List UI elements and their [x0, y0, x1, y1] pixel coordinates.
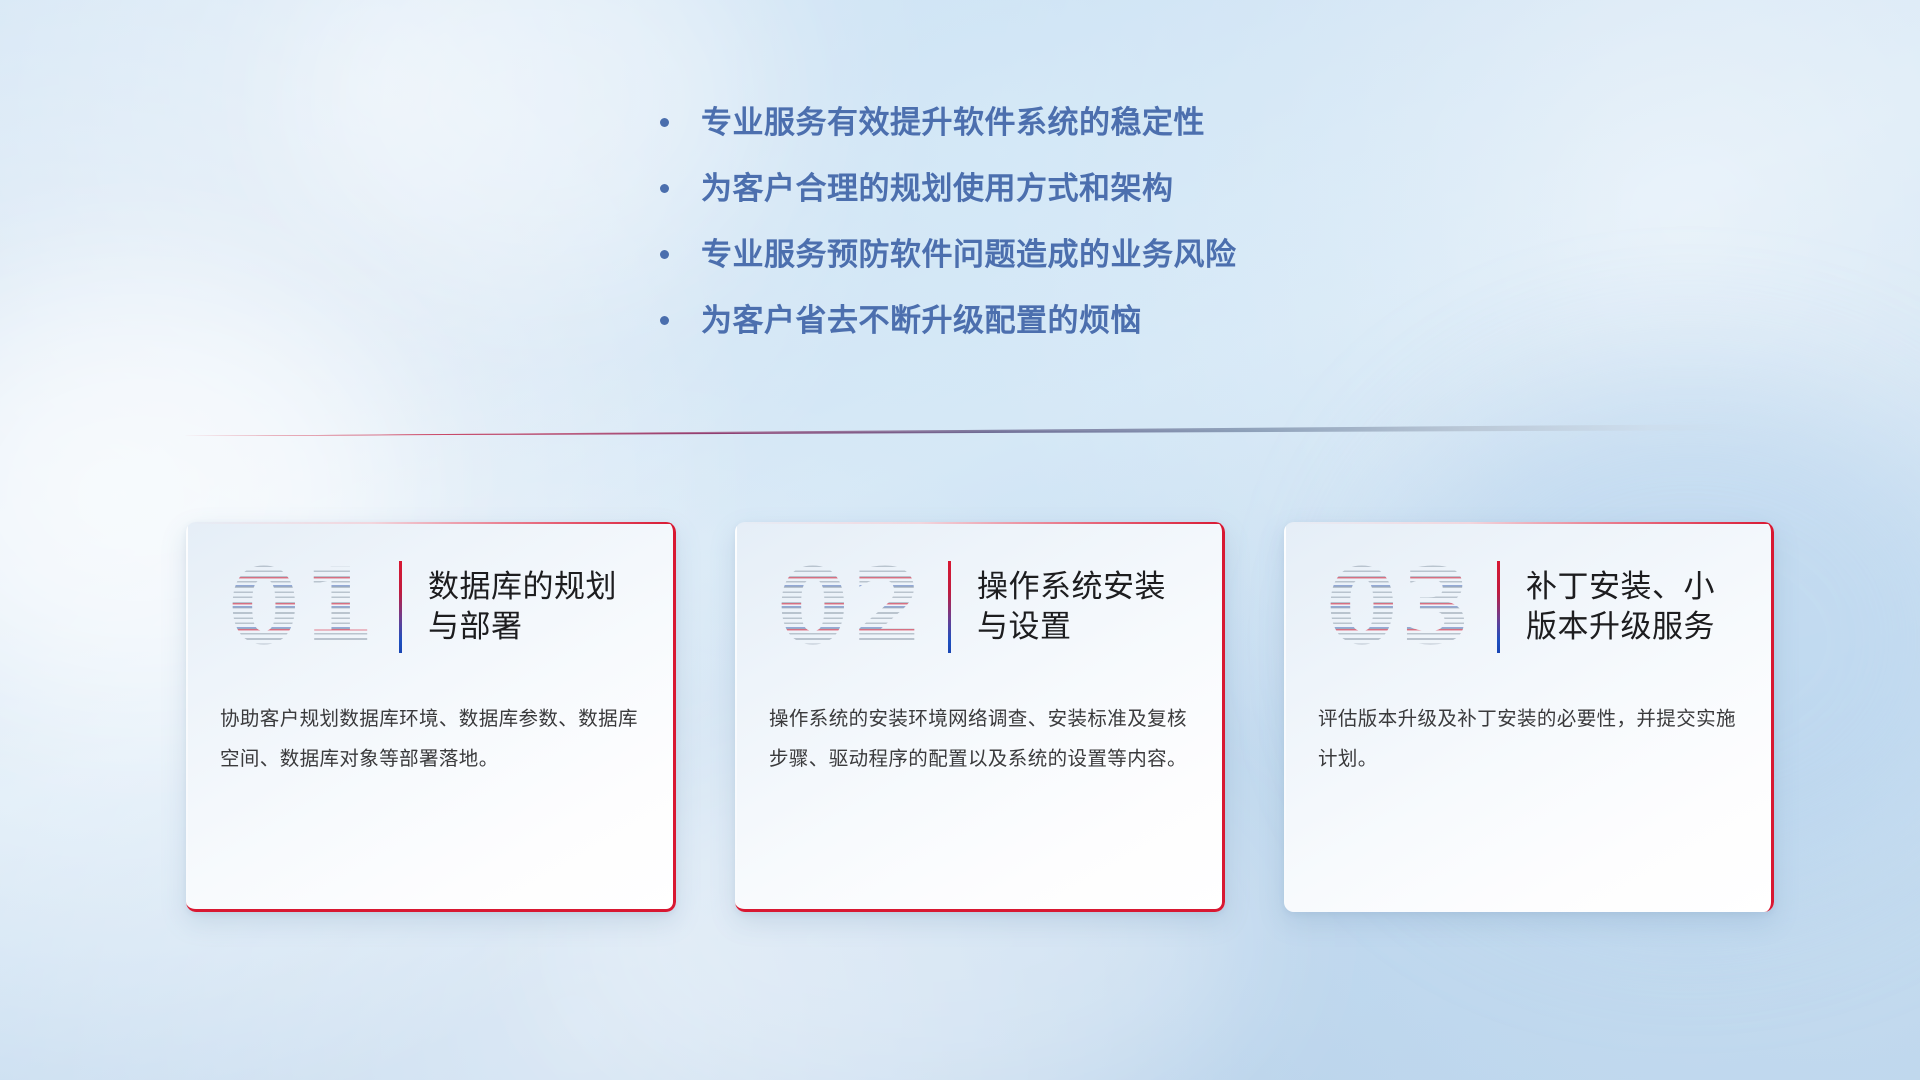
service-card-01[interactable]: 01 01 数据库的规划与部署 协助客户规划数据库环境、数据库参数、数据库空间、…: [186, 522, 676, 912]
card-body-text: 协助客户规划数据库环境、数据库参数、数据库空间、数据库对象等部署落地。: [220, 700, 642, 780]
service-card-03[interactable]: 03 03 补丁安装、小版本升级服务 评估版本升级及补丁安装的必要性，并提交实施…: [1284, 522, 1774, 912]
card-number: 02: [777, 555, 926, 659]
section-divider: [182, 424, 1742, 436]
card-number-badge: 02 02: [768, 551, 934, 663]
service-cards: 01 01 数据库的规划与部署 协助客户规划数据库环境、数据库参数、数据库空间、…: [186, 522, 1774, 912]
card-title-divider: [1497, 561, 1500, 653]
slide-root: 专业服务有效提升软件系统的稳定性 为客户合理的规划使用方式和架构 专业服务预防软…: [0, 0, 1920, 1080]
card-number: 03: [1326, 555, 1475, 659]
card-title: 补丁安装、小版本升级服务: [1526, 567, 1740, 648]
bullet-dot-icon: [660, 250, 669, 259]
card-body-text: 操作系统的安装环境网络调查、安装标准及复核步骤、驱动程序的配置以及系统的设置等内…: [769, 700, 1191, 780]
card-body-text: 评估版本升级及补丁安装的必要性，并提交实施计划。: [1318, 700, 1740, 780]
bullet-dot-icon: [660, 118, 669, 127]
list-item: 为客户合理的规划使用方式和架构: [660, 172, 1237, 206]
card-number-badge: 03 03: [1317, 551, 1483, 663]
card-title: 操作系统安装与设置: [977, 567, 1191, 648]
card-top-accent: [735, 522, 1225, 524]
card-top-accent: [186, 522, 676, 524]
card-title-divider: [948, 561, 951, 653]
card-header: 02 02 操作系统安装与设置: [735, 548, 1191, 666]
bullet-dot-icon: [660, 316, 669, 325]
card-title-divider: [399, 561, 402, 653]
benefits-bullet-list: 专业服务有效提升软件系统的稳定性 为客户合理的规划使用方式和架构 专业服务预防软…: [660, 106, 1237, 338]
card-number-badge: 01 01: [219, 551, 385, 663]
bullet-text: 为客户省去不断升级配置的烦恼: [701, 304, 1142, 338]
card-number: 01: [228, 555, 377, 659]
list-item: 为客户省去不断升级配置的烦恼: [660, 304, 1237, 338]
list-item: 专业服务预防软件问题造成的业务风险: [660, 238, 1237, 272]
card-top-accent: [1284, 522, 1774, 524]
bullet-text: 为客户合理的规划使用方式和架构: [701, 172, 1174, 206]
card-header: 01 01 数据库的规划与部署: [186, 548, 642, 666]
list-item: 专业服务有效提升软件系统的稳定性: [660, 106, 1237, 140]
bullet-text: 专业服务预防软件问题造成的业务风险: [701, 238, 1237, 272]
card-title: 数据库的规划与部署: [428, 567, 642, 648]
service-card-02[interactable]: 02 02 操作系统安装与设置 操作系统的安装环境网络调查、安装标准及复核步骤、…: [735, 522, 1225, 912]
bullet-text: 专业服务有效提升软件系统的稳定性: [701, 106, 1205, 140]
card-header: 03 03 补丁安装、小版本升级服务: [1284, 548, 1740, 666]
bullet-dot-icon: [660, 184, 669, 193]
